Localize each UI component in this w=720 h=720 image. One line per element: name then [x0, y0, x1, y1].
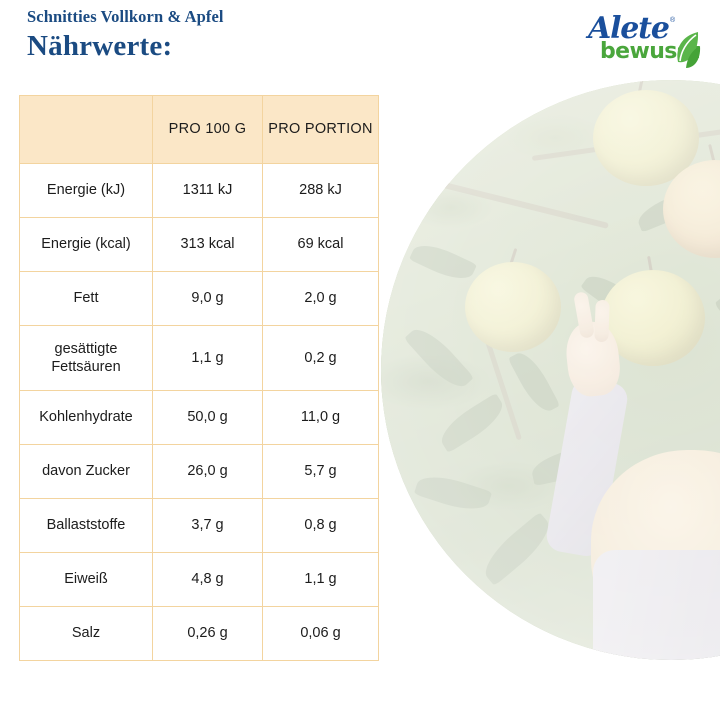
row-label: Fett [20, 272, 153, 326]
apple-picking-photo [381, 80, 720, 660]
row-value-per-100g: 4,8 g [153, 553, 263, 607]
row-value-per-100g: 0,26 g [153, 607, 263, 661]
row-value-per-100g: 1311 kJ [153, 164, 263, 218]
photo-vignette-overlay [381, 80, 720, 660]
row-value-per-portion: 1,1 g [263, 553, 379, 607]
row-label: Eiweiß [20, 553, 153, 607]
table-row: Kohlenhydrate 50,0 g 11,0 g [20, 391, 379, 445]
column-header-per-100g: PRO 100 G [153, 96, 263, 164]
nutrition-table: PRO 100 G PRO PORTION Energie (kJ) 1311 … [19, 95, 379, 661]
row-label: Energie (kcal) [20, 218, 153, 272]
table-row: Energie (kcal) 313 kcal 69 kcal [20, 218, 379, 272]
row-value-per-portion: 11,0 g [263, 391, 379, 445]
row-value-per-100g: 9,0 g [153, 272, 263, 326]
row-value-per-portion: 2,0 g [263, 272, 379, 326]
product-name: Schnitties Vollkorn & Apfel [27, 7, 224, 27]
row-value-per-100g: 26,0 g [153, 445, 263, 499]
row-value-per-portion: 0,06 g [263, 607, 379, 661]
table-row: Energie (kJ) 1311 kJ 288 kJ [20, 164, 379, 218]
row-value-per-portion: 0,2 g [263, 326, 379, 391]
photo-canvas [381, 80, 720, 660]
row-value-per-portion: 288 kJ [263, 164, 379, 218]
table-header: PRO 100 G PRO PORTION [20, 96, 379, 164]
table-row: gesättigte Fettsäuren 1,1 g 0,2 g [20, 326, 379, 391]
column-header-per-portion: PRO PORTION [263, 96, 379, 164]
table-row: davon Zucker 26,0 g 5,7 g [20, 445, 379, 499]
table-row: Fett 9,0 g 2,0 g [20, 272, 379, 326]
table-row: Ballaststoffe 3,7 g 0,8 g [20, 499, 379, 553]
row-label: Salz [20, 607, 153, 661]
table-row: Salz 0,26 g 0,06 g [20, 607, 379, 661]
row-label: Ballaststoffe [20, 499, 153, 553]
header: Schnitties Vollkorn & Apfel Nährwerte: A… [0, 0, 720, 95]
row-value-per-100g: 3,7 g [153, 499, 263, 553]
registered-trademark-icon: ® [670, 17, 675, 24]
leaf-icon [672, 30, 702, 70]
table-row: Eiweiß 4,8 g 1,1 g [20, 553, 379, 607]
table-corner-cell [20, 96, 153, 164]
row-value-per-100g: 313 kcal [153, 218, 263, 272]
row-value-per-100g: 1,1 g [153, 326, 263, 391]
row-value-per-portion: 0,8 g [263, 499, 379, 553]
table-header-row: PRO 100 G PRO PORTION [20, 96, 379, 164]
row-label: davon Zucker [20, 445, 153, 499]
row-value-per-portion: 5,7 g [263, 445, 379, 499]
page-title: Nährwerte: [27, 30, 172, 63]
row-value-per-100g: 50,0 g [153, 391, 263, 445]
brand-logo: Alete ® bewusst [586, 14, 704, 76]
row-label: Energie (kJ) [20, 164, 153, 218]
row-label: Kohlenhydrate [20, 391, 153, 445]
row-value-per-portion: 69 kcal [263, 218, 379, 272]
table-body: Energie (kJ) 1311 kJ 288 kJ Energie (kca… [20, 164, 379, 661]
row-label: gesättigte Fettsäuren [20, 326, 153, 391]
